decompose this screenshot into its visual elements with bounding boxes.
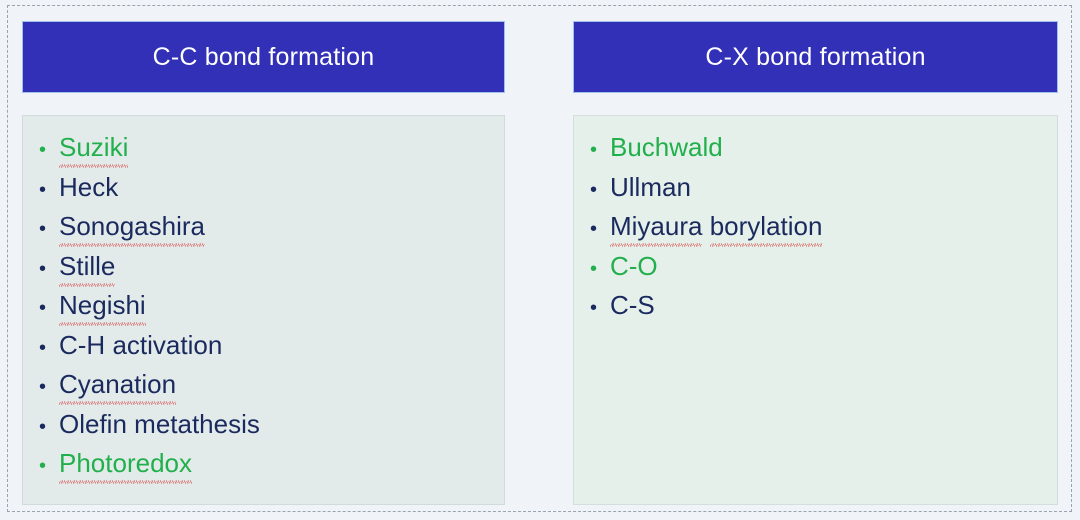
word: Olefin [59,409,127,439]
column-header-c-x[interactable]: C-X bond formation [573,21,1058,93]
list-item-label: Heck [59,174,118,200]
list-item-label: Photoredox [59,450,192,476]
bullet-icon: • [39,140,59,160]
list-item[interactable]: •Stille [23,253,504,293]
column-header-c-c[interactable]: C-C bond formation [22,21,505,93]
bullet-icon: • [39,338,59,358]
list-item-label: Miyaura borylation [610,213,822,239]
reaction-list-c-c: •Suziki•Heck•Sonogashira•Stille•Negishi•… [23,134,504,490]
list-item[interactable]: •Miyaura borylation [574,213,1057,253]
bullet-icon: • [39,259,59,279]
bullet-icon: • [39,219,59,239]
spellcheck-underline: Photoredox [59,448,192,478]
column-panel-c-c: •Suziki•Heck•Sonogashira•Stille•Negishi•… [22,115,505,505]
bullet-icon: • [590,140,610,160]
word: C-O [610,251,658,281]
list-item[interactable]: •Sonogashira [23,213,504,253]
list-item[interactable]: •Cyanation [23,371,504,411]
bullet-icon: • [590,259,610,279]
list-item-label: C-H activation [59,332,222,358]
spellcheck-underline: Suziki [59,132,128,162]
list-item-label: Sonogashira [59,213,205,239]
list-item[interactable]: •Olefin metathesis [23,411,504,451]
list-item[interactable]: •C-H activation [23,332,504,372]
bullet-icon: • [590,180,610,200]
list-item[interactable]: •Buchwald [574,134,1057,174]
column-c-c-bond-formation: C-C bond formation •Suziki•Heck•Sonogash… [22,0,505,520]
spellcheck-underline: Negishi [59,290,146,320]
spellcheck-underline: Cyanation [59,369,176,399]
spellcheck-underline: Miyaura [610,211,702,241]
list-item[interactable]: •C-S [574,292,1057,332]
bullet-icon: • [39,417,59,437]
bullet-icon: • [39,180,59,200]
list-item-label: Stille [59,253,115,279]
word: Ullman [610,172,691,202]
list-item-label: C-S [610,292,655,318]
spellcheck-underline: borylation [710,211,823,241]
word: Heck [59,172,118,202]
bullet-icon: • [590,298,610,318]
list-item-label: Negishi [59,292,146,318]
list-item[interactable]: •Negishi [23,292,504,332]
column-header-title: C-X bond formation [705,45,925,70]
list-item[interactable]: •Suziki [23,134,504,174]
two-column-layout: C-C bond formation •Suziki•Heck•Sonogash… [0,0,1080,520]
word: activation [112,330,222,360]
column-panel-c-x: •Buchwald•Ullman•Miyaura borylation•C-O•… [573,115,1058,505]
bullet-icon: • [39,298,59,318]
list-item-label: Cyanation [59,371,176,397]
list-item-label: Suziki [59,134,128,160]
list-item[interactable]: •Heck [23,174,504,214]
list-item[interactable]: •C-O [574,253,1057,293]
word: C-H [59,330,105,360]
bullet-icon: • [590,219,610,239]
list-item-label: Ullman [610,174,691,200]
word: metathesis [134,409,260,439]
column-c-x-bond-formation: C-X bond formation •Buchwald•Ullman•Miya… [573,0,1058,520]
list-item[interactable]: •Photoredox [23,450,504,490]
list-item-label: Buchwald [610,134,723,160]
list-item-label: C-O [610,253,658,279]
spellcheck-underline: Sonogashira [59,211,205,241]
reaction-list-c-x: •Buchwald•Ullman•Miyaura borylation•C-O•… [574,134,1057,332]
column-header-title: C-C bond formation [153,45,375,70]
word: C-S [610,290,655,320]
list-item[interactable]: •Ullman [574,174,1057,214]
bullet-icon: • [39,456,59,476]
bullet-icon: • [39,377,59,397]
word: Buchwald [610,132,723,162]
spellcheck-underline: Stille [59,251,115,281]
list-item-label: Olefin metathesis [59,411,260,437]
